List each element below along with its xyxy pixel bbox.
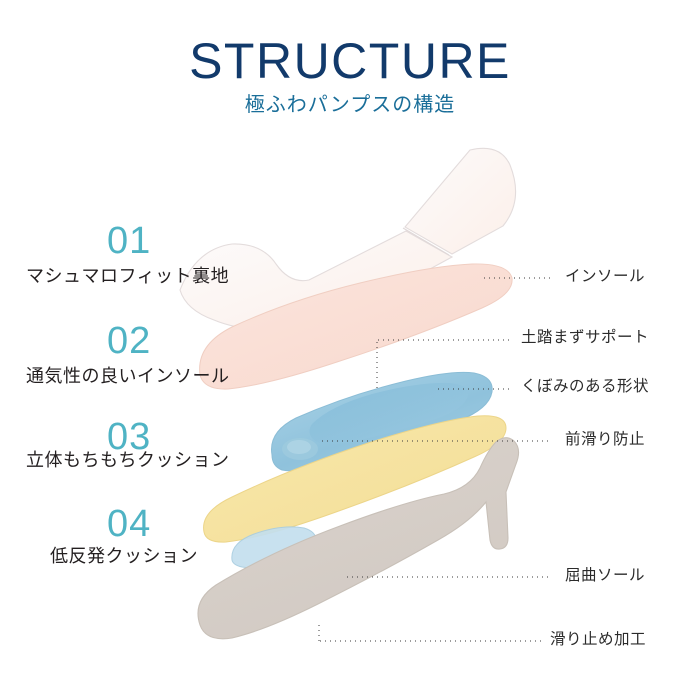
callout-number-04: 04 [107,505,151,543]
leader-line-arch-support-vertical [376,340,378,388]
callout-label-contoured-shape: くぼみのある形状 [521,379,649,395]
callout-label-03: 立体もちもちクッション [26,452,230,470]
leader-line-contoured-shape [436,388,512,390]
structure-infographic: STRUCTURE 極ふわパンプスの構造 [0,0,700,700]
callout-number-02: 02 [107,322,151,360]
callout-label-arch-support: 土踏まずサポート [521,330,649,346]
leader-line-nonslip-finish [318,640,542,642]
callout-label-01: マシュマロフィット裏地 [26,268,229,286]
callout-label-nonslip-finish: 滑り止め加工 [550,632,646,648]
shoe-exploded-diagram [0,0,700,700]
callout-number-01: 01 [107,222,151,260]
leader-line-insole [482,277,554,279]
leader-line-arch-support [376,339,512,341]
callout-label-02: 通気性の良いインソール [26,368,230,386]
callout-label-04: 低反発クッション [50,548,198,566]
leader-line-flex-sole [345,576,552,578]
leader-line-nonslip-finish-vertical [318,623,320,641]
leader-line-anti-slip-forward [320,440,552,442]
callout-label-flex-sole: 屈曲ソール [565,568,645,584]
callout-label-insole: インソール [565,269,645,285]
callout-label-anti-slip-forward: 前滑り防止 [565,432,645,448]
